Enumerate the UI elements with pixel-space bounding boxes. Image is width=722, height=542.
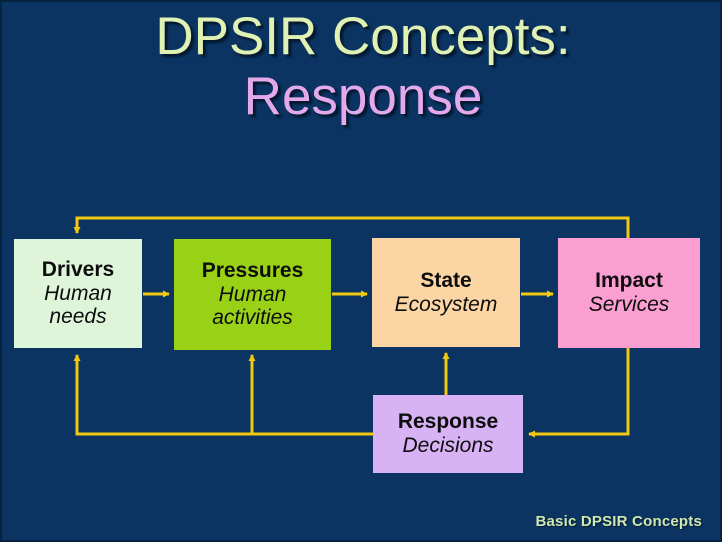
node-impact[interactable]: Impact Services	[558, 238, 700, 348]
node-state-title: State	[420, 269, 471, 293]
edge-impact-to-drivers	[77, 218, 628, 238]
node-drivers-subtitle-line1: Human	[44, 282, 112, 306]
edge-impact-to-response	[529, 348, 628, 434]
node-pressures-title: Pressures	[202, 259, 304, 283]
node-state[interactable]: State Ecosystem	[372, 238, 520, 347]
node-drivers-title: Drivers	[42, 258, 114, 282]
node-response-title: Response	[398, 410, 498, 434]
edge-response-to-drivers	[77, 355, 252, 434]
node-pressures[interactable]: Pressures Human activities	[174, 239, 331, 350]
footer-label: Basic DPSIR Concepts	[535, 513, 702, 530]
node-impact-title: Impact	[595, 269, 663, 293]
node-impact-subtitle: Services	[589, 293, 670, 317]
node-pressures-subtitle-line1: Human	[219, 283, 287, 307]
node-state-subtitle: Ecosystem	[395, 293, 498, 317]
node-response-subtitle: Decisions	[402, 434, 493, 458]
node-drivers[interactable]: Drivers Human needs	[14, 239, 142, 348]
node-response[interactable]: Response Decisions	[373, 395, 523, 473]
slide-canvas: DPSIR Concepts: Response	[0, 0, 722, 542]
edge-response-to-pressures	[252, 355, 373, 434]
node-pressures-subtitle-line2: activities	[212, 306, 293, 330]
node-drivers-subtitle-line2: needs	[49, 305, 106, 329]
